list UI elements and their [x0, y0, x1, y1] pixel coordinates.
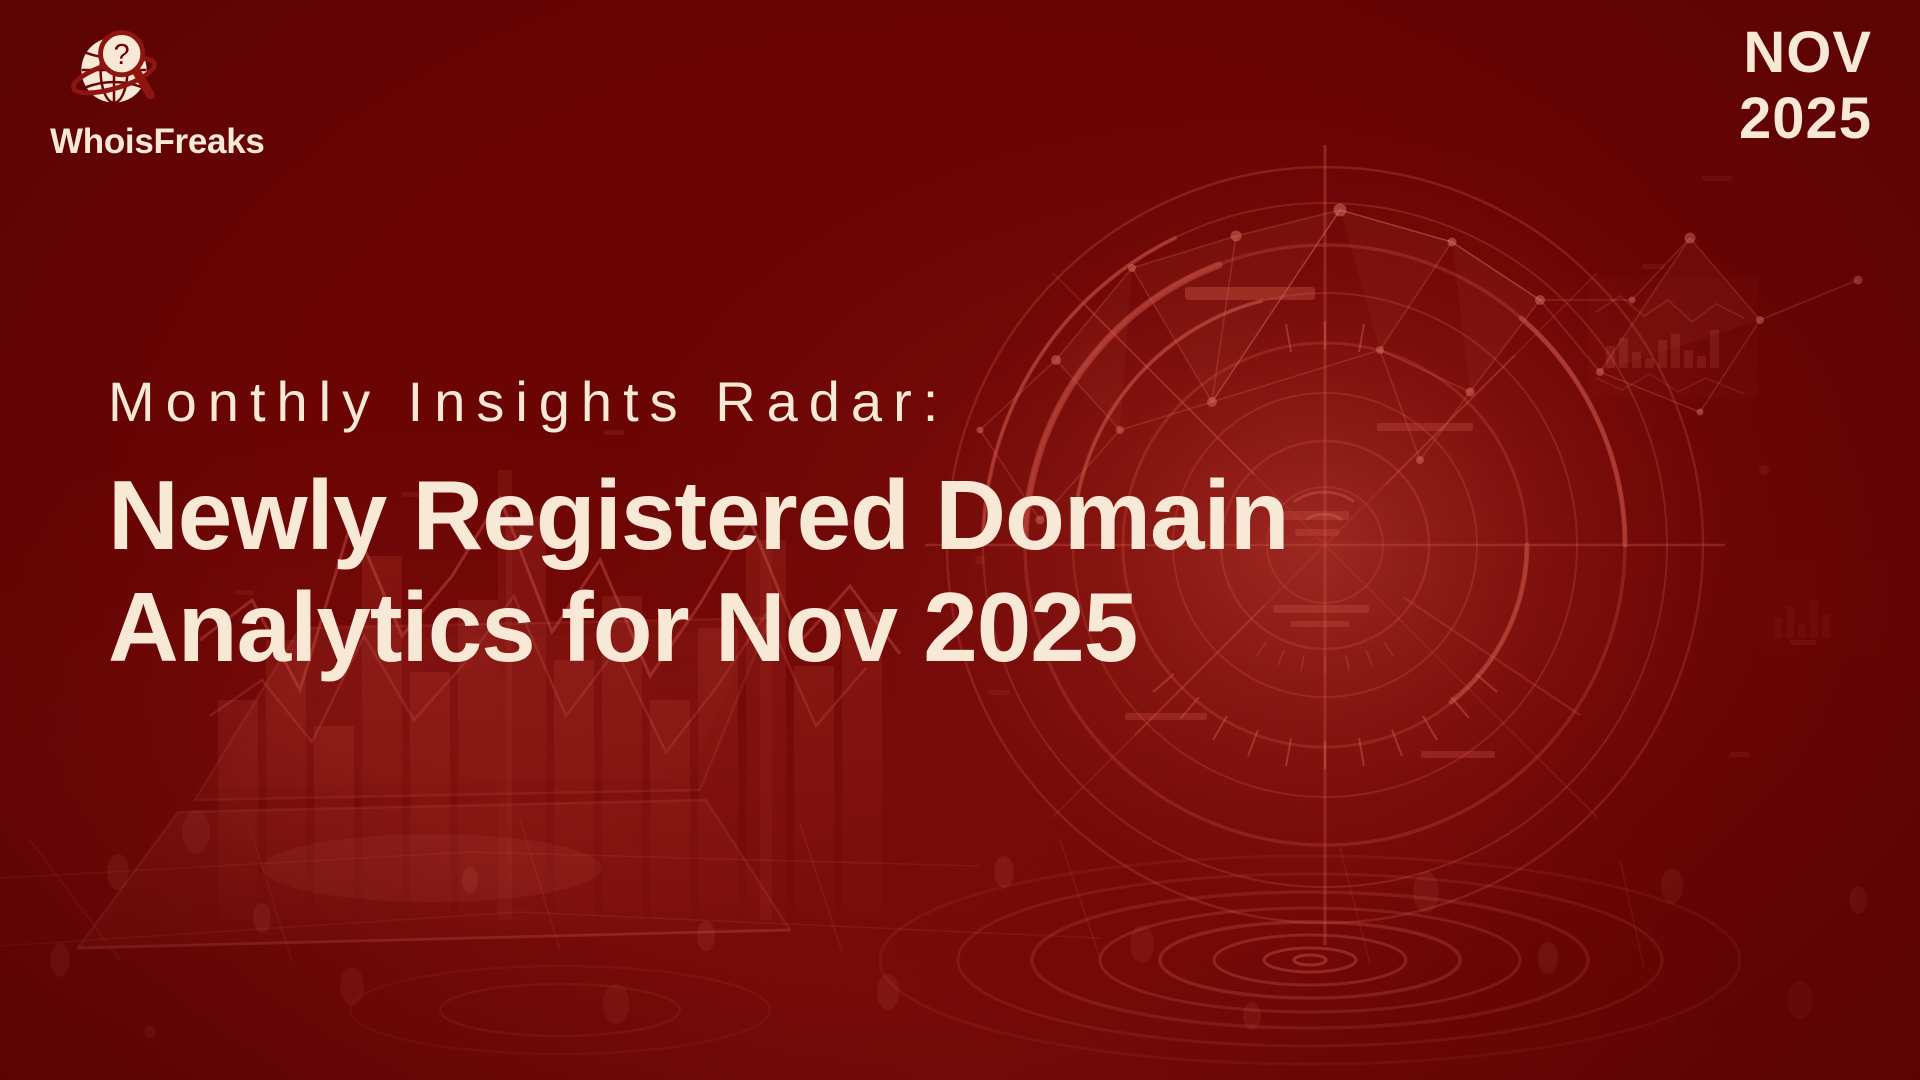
svg-text:?: ? — [114, 39, 130, 71]
headline-line-2: Analytics for Nov 2025 — [108, 572, 1668, 684]
ripple-ellipses-secondary — [350, 966, 770, 1054]
headline-block: Monthly Insights Radar: Newly Registered… — [108, 372, 1668, 684]
brand-wordmark: WhoisFreaks — [30, 124, 290, 159]
date-badge: NOV 2025 — [1739, 24, 1872, 148]
hud-panel-secondary — [1760, 560, 1890, 656]
date-year: 2025 — [1739, 90, 1872, 148]
brand-logo[interactable]: ? WhoisFreaks — [30, 22, 290, 159]
headline-line-1: Newly Registered Domain — [108, 460, 1668, 572]
globe-magnifier-question-icon: ? — [66, 22, 162, 118]
promo-banner: ? WhoisFreaks NOV 2025 Monthly Insights … — [0, 0, 1920, 1080]
ripple-ellipses — [880, 856, 1740, 1064]
date-month: NOV — [1739, 24, 1872, 82]
floor-grid — [0, 820, 1644, 968]
headline-eyebrow: Monthly Insights Radar: — [108, 372, 1668, 432]
